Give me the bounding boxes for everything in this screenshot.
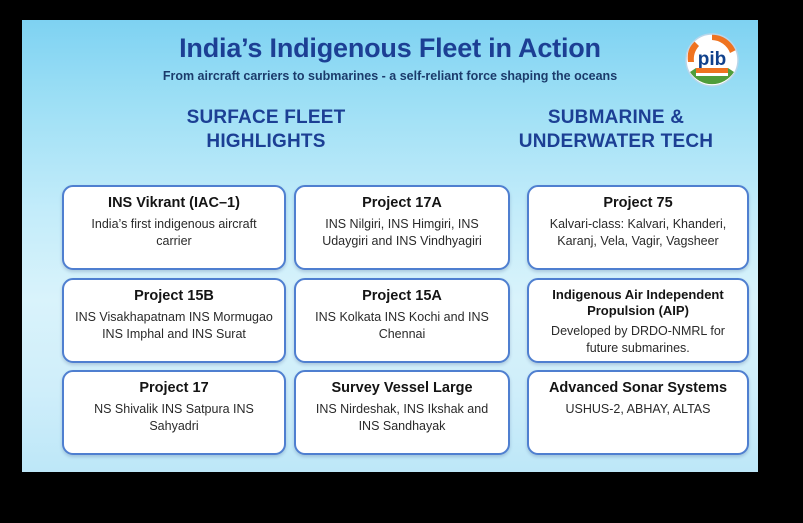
card-title: Project 17A (304, 194, 500, 212)
card-survey-vessel-large[interactable]: Survey Vessel Large INS Nirdeshak, INS I… (294, 370, 510, 455)
page-subtitle: From aircraft carriers to submarines - a… (22, 68, 758, 84)
card-body: India’s first indigenous aircraft carrie… (72, 216, 276, 249)
card-project-15a[interactable]: Project 15A INS Kolkata INS Kochi and IN… (294, 278, 510, 363)
card-body: INS Nilgiri, INS Himgiri, INS Udaygiri a… (304, 216, 500, 249)
card-body: USHUS-2, ABHAY, ALTAS (537, 401, 739, 418)
card-title: Advanced Sonar Systems (537, 379, 739, 397)
infographic-panel: India’s Indigenous Fleet in Action From … (22, 20, 758, 472)
infographic-root: India’s Indigenous Fleet in Action From … (0, 0, 803, 523)
section-heading-submarine-tech: SUBMARINE & UNDERWATER TECH (492, 106, 740, 154)
card-project-17[interactable]: Project 17 NS Shivalik INS Satpura INS S… (62, 370, 286, 455)
card-body: Kalvari-class: Kalvari, Khanderi, Karanj… (537, 216, 739, 249)
card-advanced-sonar-systems[interactable]: Advanced Sonar Systems USHUS-2, ABHAY, A… (527, 370, 749, 455)
card-project-17a[interactable]: Project 17A INS Nilgiri, INS Himgiri, IN… (294, 185, 510, 270)
card-body: NS Shivalik INS Satpura INS Sahyadri (72, 401, 276, 434)
section-heading-surface-fleet: SURFACE FLEET HIGHLIGHTS (42, 106, 490, 154)
section-heading-submarine-line1: SUBMARINE & (492, 106, 740, 130)
card-project-15b[interactable]: Project 15B INS Visakhapatnam INS Mormug… (62, 278, 286, 363)
card-title: Project 15A (304, 287, 500, 305)
page-title: India’s Indigenous Fleet in Action (22, 32, 758, 64)
card-body: Developed by DRDO-NMRL for future submar… (537, 323, 739, 356)
header: India’s Indigenous Fleet in Action From … (22, 32, 758, 84)
section-heading-surface-line1: SURFACE FLEET (42, 106, 490, 130)
card-title: Survey Vessel Large (304, 379, 500, 397)
card-title: Indigenous Air Independent Propulsion (A… (537, 287, 739, 319)
card-title: Project 75 (537, 194, 739, 212)
section-heading-surface-line2: HIGHLIGHTS (42, 130, 490, 154)
card-body: INS Kolkata INS Kochi and INS Chennai (304, 309, 500, 342)
section-heading-submarine-line2: UNDERWATER TECH (492, 130, 740, 154)
card-body: INS Visakhapatnam INS Mormugao INS Impha… (72, 309, 276, 342)
card-title: INS Vikrant (IAC–1) (72, 194, 276, 212)
card-project-75[interactable]: Project 75 Kalvari-class: Kalvari, Khand… (527, 185, 749, 270)
card-ins-vikrant[interactable]: INS Vikrant (IAC–1) India’s first indige… (62, 185, 286, 270)
pib-logo-text: pib (698, 49, 727, 70)
card-body: INS Nirdeshak, INS Ikshak and INS Sandha… (304, 401, 500, 434)
card-title: Project 17 (72, 379, 276, 397)
card-aip[interactable]: Indigenous Air Independent Propulsion (A… (527, 278, 749, 363)
card-title: Project 15B (72, 287, 276, 305)
pib-logo: pib (684, 32, 740, 88)
